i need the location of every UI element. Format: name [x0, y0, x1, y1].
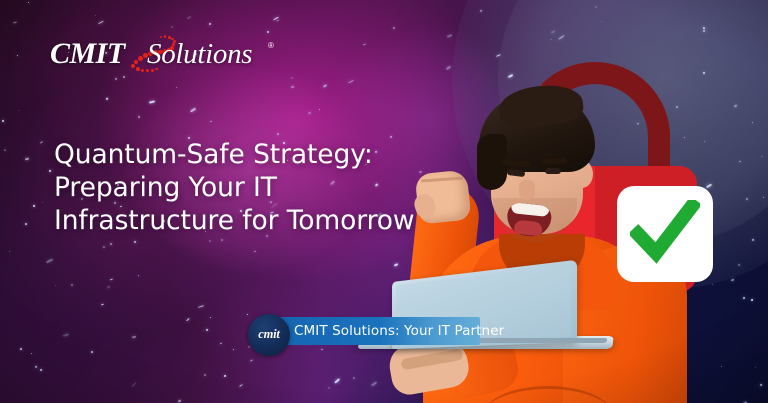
vignette-overlay: [0, 0, 768, 403]
marketing-banner: CMIT Solutions ® Quantum-Safe Strategy: …: [0, 0, 768, 403]
